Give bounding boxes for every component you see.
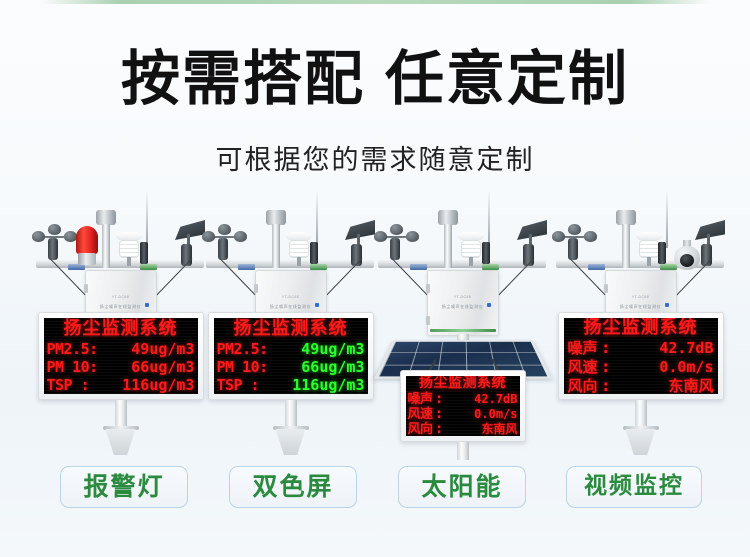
noise-sensor-icon <box>96 210 116 266</box>
status-led-icon <box>665 303 669 307</box>
status-led-icon <box>487 303 491 307</box>
screen-row: PM2.5: 49ug/m3 <box>214 340 368 358</box>
screen-title: 扬尘监测系统 <box>44 318 198 340</box>
screen-row-value: 116ug/m3 <box>109 376 195 394</box>
product-unit-video-monitoring[interactable]: YT-DC98 扬尘噪声在线监测仪 扬尘监测系统 噪声 : 42.7dB 风速 … <box>548 208 733 458</box>
screen-row-value: 42.7dB <box>634 339 714 358</box>
auxiliary-sensor-icon <box>658 242 666 264</box>
screen-row-label: PM 10: <box>47 358 109 376</box>
screen-row-label: TSP : <box>217 376 279 394</box>
screen-row-value: 49ug/m3 <box>279 340 365 358</box>
screen-row: PM 10: 66ug/m3 <box>214 358 368 376</box>
product-unit-solar-power[interactable]: YT-DC98 扬尘噪声在线监测仪 扬尘监测系统 噪声 : 42.7dB 风速 … <box>370 208 555 458</box>
screen-row: 噪声 : 42.7dB <box>564 339 718 358</box>
enclosure-model-text: YT-DC98 <box>428 295 498 299</box>
screen-title: 扬尘监测系统 <box>564 318 718 339</box>
screen-row: 噪声 : 42.7dB <box>406 392 520 407</box>
page-title-part1: 按需搭配 <box>121 44 365 113</box>
screen-row: PM2.5: 49ug/m3 <box>44 340 198 358</box>
antenna-icon <box>488 190 490 248</box>
screen-row-label: TSP : <box>47 376 109 394</box>
screen-row-label: PM 10: <box>217 358 279 376</box>
screen-row-value: 东南风 <box>460 422 518 436</box>
auxiliary-sensor-icon <box>140 242 148 264</box>
led-display-board[interactable]: 扬尘监测系统 噪声 : 42.7dB 风速 : 0.0m/s 风向 : 东南风 <box>400 370 526 442</box>
screen-row-value: 0.0m/s <box>460 407 518 422</box>
led-display-board[interactable]: 扬尘监测系统 噪声 : 42.7dB 风速 : 0.0m/s 风向 : 东南风 <box>558 312 724 400</box>
feature-button-row: 报警灯 双色屏 太阳能 视频监控 <box>0 466 750 512</box>
product-unit-dual-color-screen[interactable]: YT-DC98 扬尘噪声在线监测仪 扬尘监测系统 PM2.5: 49ug/m3 … <box>198 208 383 458</box>
screen-row: 风向 : 东南风 <box>564 377 718 395</box>
screen-row-value: 42.7dB <box>460 392 518 407</box>
feature-button-alarm-light[interactable]: 报警灯 <box>60 466 188 508</box>
radiation-shield-icon <box>116 232 142 266</box>
led-display-board[interactable]: 扬尘监测系统 PM2.5: 49ug/m3 PM 10: 66ug/m3 TSP… <box>208 312 374 400</box>
screen-row-label: 噪声 : <box>408 392 460 407</box>
screen-row-value: 0.0m/s <box>634 358 714 377</box>
status-led-icon <box>145 303 149 307</box>
screen-row-label: PM2.5: <box>217 340 279 358</box>
screen-row: TSP : 116ug/m3 <box>44 376 198 394</box>
auxiliary-sensor-icon <box>310 242 318 264</box>
noise-sensor-icon <box>616 210 636 266</box>
led-display-board[interactable]: 扬尘监测系统 PM2.5: 49ug/m3 PM 10: 66ug/m3 TSP… <box>38 312 204 400</box>
controller-enclosure[interactable]: YT-DC98 扬尘噪声在线监测仪 <box>427 270 499 336</box>
screen-row-label: 风向 : <box>568 377 634 395</box>
pole-base <box>626 429 656 455</box>
screen-title: 扬尘监测系统 <box>214 318 368 340</box>
pole-base <box>276 429 306 455</box>
led-screen: 扬尘监测系统 PM2.5: 49ug/m3 PM 10: 66ug/m3 TSP… <box>44 318 198 394</box>
anemometer-icon <box>202 224 248 266</box>
screen-row-label: 风速 : <box>408 407 460 422</box>
screen-row-value: 116ug/m3 <box>279 376 365 394</box>
screen-row: 风速 : 0.0m/s <box>406 407 520 422</box>
antenna-icon <box>316 190 318 248</box>
anemometer-icon <box>552 224 598 266</box>
screen-row-value: 66ug/m3 <box>109 358 195 376</box>
screen-row: 风向 : 东南风 <box>406 422 520 436</box>
screen-row: 风速 : 0.0m/s <box>564 358 718 377</box>
screen-row-label: 风速 : <box>568 358 634 377</box>
enclosure-model-text: YT-DC98 <box>86 295 156 299</box>
screen-row-label: 噪声 : <box>568 339 634 358</box>
anemometer-icon <box>32 224 78 266</box>
feature-button-dual-color-screen[interactable]: 双色屏 <box>229 466 357 508</box>
page-title-part2: 任意定制 <box>385 44 629 113</box>
radiation-shield-icon <box>286 232 312 266</box>
screen-title: 扬尘监测系统 <box>406 376 520 392</box>
product-unit-alarm-light[interactable]: YT-DC98 扬尘噪声在线监测仪 扬尘监测系统 PM2.5: 49ug/m3 … <box>28 208 213 458</box>
page-subtitle: 可根据您的需求随意定制 <box>0 138 750 177</box>
screen-row-value: 东南风 <box>634 377 714 395</box>
screen-row-value: 49ug/m3 <box>109 340 195 358</box>
antenna-icon <box>146 190 148 248</box>
product-gallery: YT-DC98 扬尘噪声在线监测仪 扬尘监测系统 PM2.5: 49ug/m3 … <box>0 208 750 458</box>
enclosure-model-text: YT-DC98 <box>606 295 676 299</box>
screen-row-value: 66ug/m3 <box>279 358 365 376</box>
feature-button-video-monitoring[interactable]: 视频监控 <box>566 466 702 508</box>
screen-row: PM 10: 66ug/m3 <box>44 358 198 376</box>
alarm-beacon-light <box>76 226 98 266</box>
auxiliary-sensor-icon <box>482 242 490 264</box>
led-screen: 扬尘监测系统 噪声 : 42.7dB 风速 : 0.0m/s 风向 : 东南风 <box>564 318 718 394</box>
anemometer-icon <box>374 224 420 266</box>
led-screen: 扬尘监测系统 PM2.5: 49ug/m3 PM 10: 66ug/m3 TSP… <box>214 318 368 394</box>
led-screen: 扬尘监测系统 噪声 : 42.7dB 风速 : 0.0m/s 风向 : 东南风 <box>406 376 520 436</box>
antenna-icon <box>666 190 668 248</box>
mast-pole-lower <box>457 442 469 460</box>
page-title: 按需搭配任意定制 <box>0 48 750 110</box>
screen-row-label: PM2.5: <box>47 340 109 358</box>
pole-base <box>106 429 136 455</box>
screen-row-label: 风向 : <box>408 422 460 436</box>
noise-sensor-icon <box>266 210 286 266</box>
enclosure-model-text: YT-DC98 <box>256 295 326 299</box>
status-led-icon <box>315 303 319 307</box>
noise-sensor-icon <box>438 210 458 266</box>
screen-row: TSP : 116ug/m3 <box>214 376 368 394</box>
radiation-shield-icon <box>458 232 484 266</box>
feature-button-solar-power[interactable]: 太阳能 <box>398 466 526 508</box>
top-divider-rule <box>40 0 710 4</box>
